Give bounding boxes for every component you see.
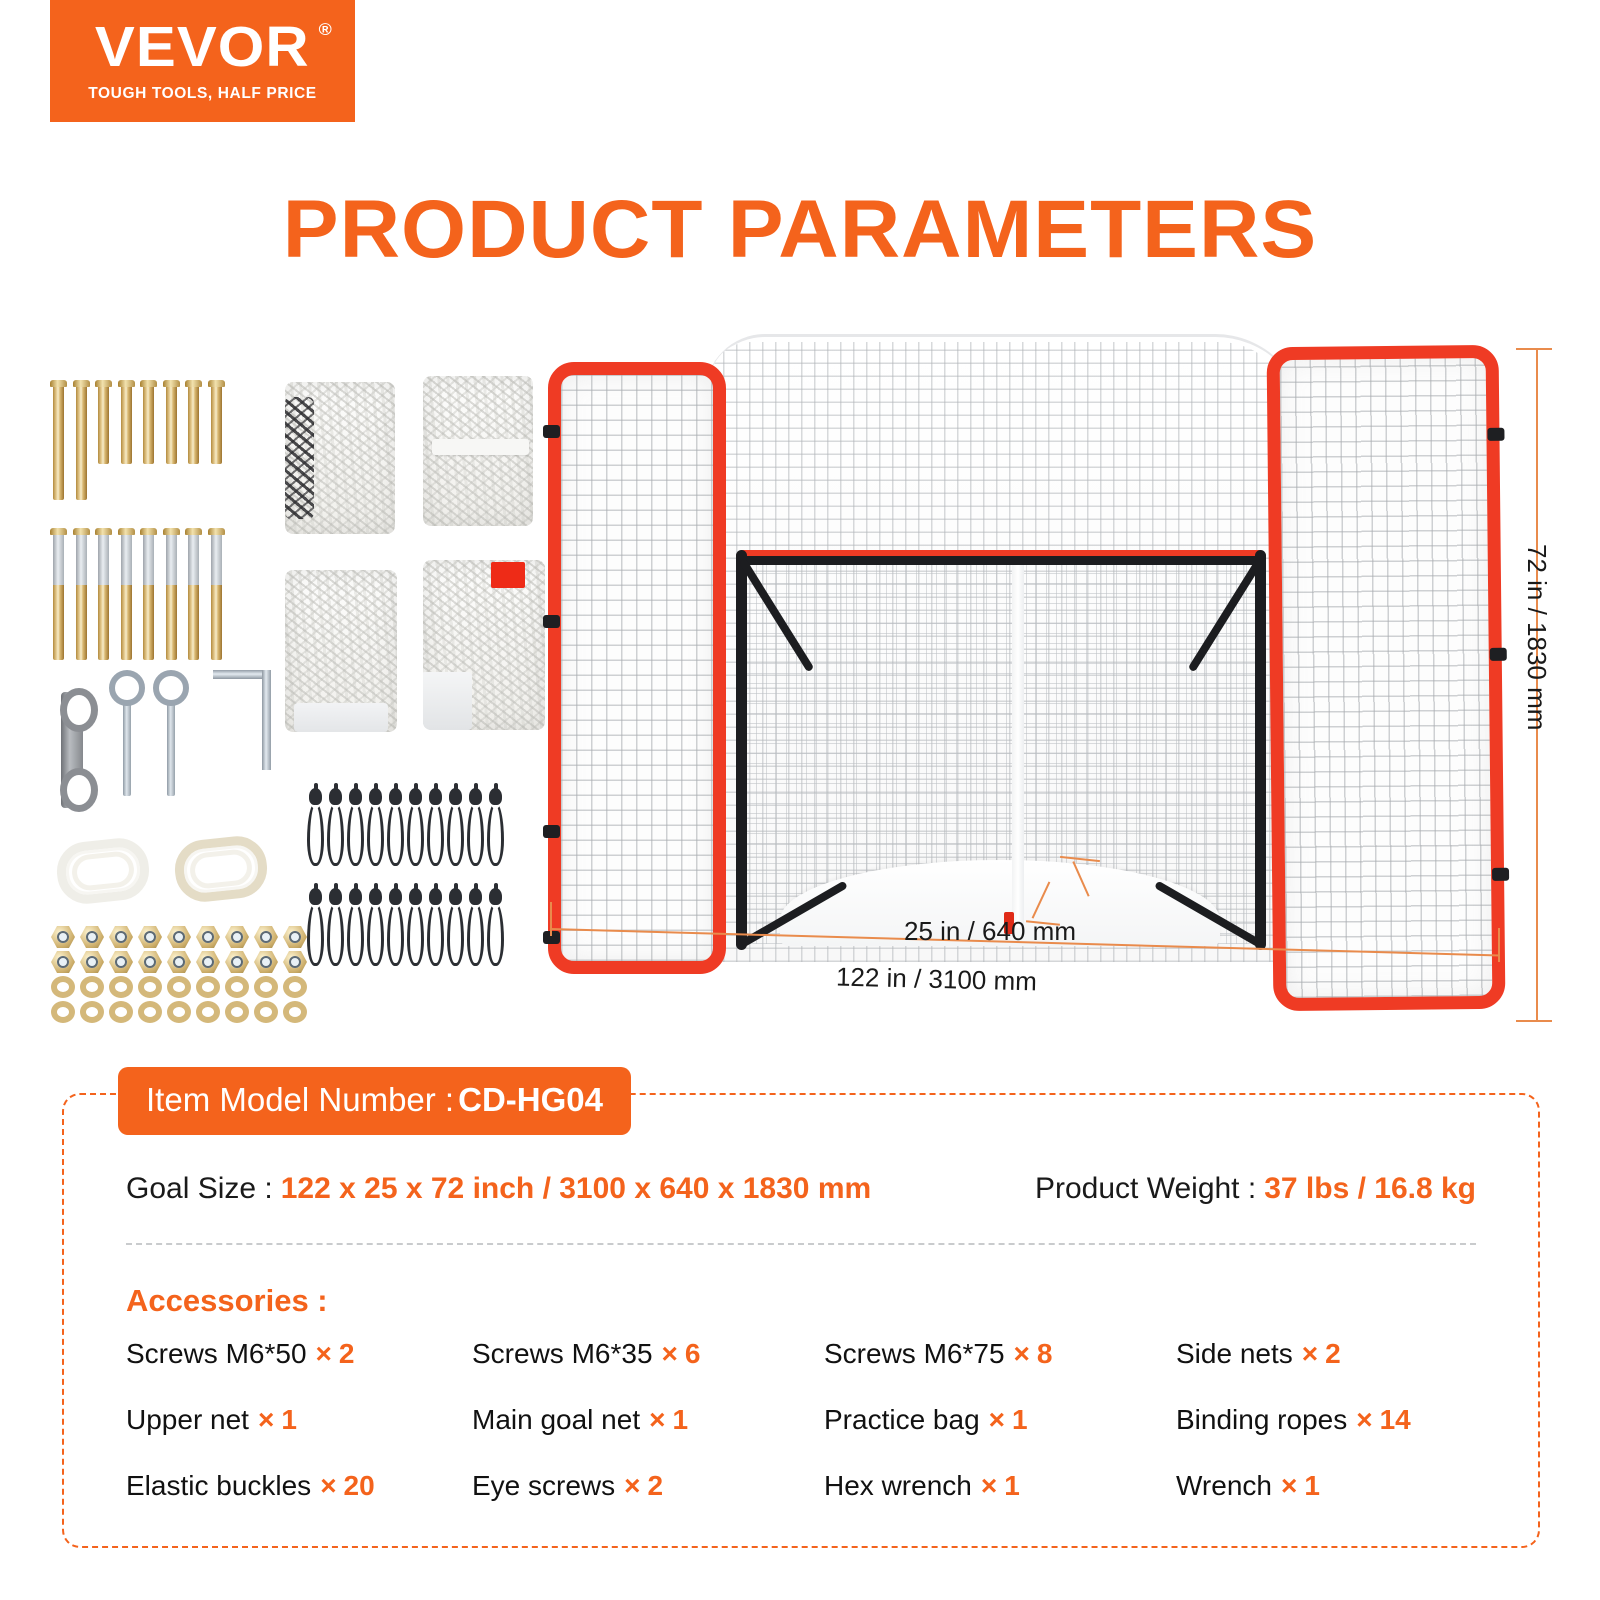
accessory-qty: 2 xyxy=(339,1338,355,1370)
brand-wordmark: VEVOR ® xyxy=(95,19,310,76)
accessory-qty: 2 xyxy=(648,1470,664,1502)
accessory-label: Screws M6*75 xyxy=(824,1338,1005,1370)
registered-mark-icon: ® xyxy=(319,21,333,38)
brand-name: VEVOR xyxy=(95,15,310,79)
dim-tick-height-top xyxy=(1516,348,1552,350)
accessories-grid: Screws M6*50 × 2 Screws M6*35 × 6 Screws… xyxy=(126,1338,1480,1502)
accessory-label: Hex wrench xyxy=(824,1470,972,1502)
brand-tagline: TOUGH TOOLS, HALF PRICE xyxy=(88,85,317,103)
multiply-icon: × xyxy=(258,1404,274,1436)
multiply-icon: × xyxy=(649,1404,665,1436)
elastic-buckles-row-2 xyxy=(307,888,504,966)
item-model-number-badge: Item Model Number :CD-HG04 xyxy=(118,1067,631,1135)
net-bundle-with-red-tag xyxy=(423,560,545,730)
product-weight-spec: Product Weight : 37 lbs / 16.8 kg xyxy=(1035,1172,1476,1206)
product-photo-hockey-goal: 122 in / 3100 mm 25 in / 640 mm 72 in / … xyxy=(540,320,1550,1040)
accessory-label: Practice bag xyxy=(824,1404,980,1436)
multiply-icon: × xyxy=(981,1470,997,1502)
multiply-icon: × xyxy=(1014,1338,1030,1370)
right-wing-panel xyxy=(1267,345,1506,1011)
accessory-qty: 1 xyxy=(672,1404,688,1436)
dim-tick-width-right xyxy=(1498,928,1500,962)
accessory-label: Main goal net xyxy=(472,1404,640,1436)
accessory-qty: 6 xyxy=(685,1338,701,1370)
accessory-label: Screws M6*50 xyxy=(126,1338,307,1370)
accessory-label: Eye screws xyxy=(472,1470,615,1502)
accessory-item: Side nets × 2 xyxy=(1176,1338,1480,1370)
dim-tick-height-bottom xyxy=(1516,1020,1552,1022)
goal-size-value: 122 x 25 x 72 inch / 3100 x 640 x 1830 m… xyxy=(281,1172,871,1206)
net-bundle-black-white xyxy=(285,382,395,534)
accessory-qty: 1 xyxy=(1304,1470,1320,1502)
item-model-number-value: CD-HG04 xyxy=(458,1081,603,1118)
center-strap xyxy=(1012,558,1024,928)
goal-size-spec: Goal Size : 122 x 25 x 72 inch / 3100 x … xyxy=(126,1172,871,1206)
product-weight-value: 37 lbs / 16.8 kg xyxy=(1264,1172,1476,1206)
accessory-item: Wrench × 1 xyxy=(1176,1470,1480,1502)
dim-label-width: 122 in / 3100 mm xyxy=(836,962,1038,998)
multiply-icon: × xyxy=(1302,1338,1318,1370)
accessory-qty: 2 xyxy=(1325,1338,1341,1370)
accessory-label: Upper net xyxy=(126,1404,249,1436)
dim-label-height: 72 in / 1830 mm xyxy=(1521,544,1552,730)
elastic-buckles-row-1 xyxy=(307,788,504,866)
spec-summary-row: Goal Size : 122 x 25 x 72 inch / 3100 x … xyxy=(62,1172,1540,1206)
accessory-label: Elastic buckles xyxy=(126,1470,311,1502)
multiply-icon: × xyxy=(989,1404,1005,1436)
net-bundle-white-folded xyxy=(285,570,397,732)
item-model-number-label: Item Model Number : xyxy=(146,1081,454,1118)
multiply-icon: × xyxy=(1356,1404,1372,1436)
accessory-label: Wrench xyxy=(1176,1470,1272,1502)
accessory-item: Screws M6*50 × 2 xyxy=(126,1338,472,1370)
accessory-qty: 1 xyxy=(281,1404,297,1436)
rope-beige xyxy=(172,833,270,904)
accessory-item: Eye screws × 2 xyxy=(472,1470,824,1502)
screws-brass-row-1 xyxy=(53,380,222,500)
spec-spacer xyxy=(871,1172,1035,1206)
product-weight-label: Product Weight : xyxy=(1035,1172,1256,1206)
vevor-logo: VEVOR ® TOUGH TOOLS, HALF PRICE xyxy=(50,0,355,122)
accessory-label: Screws M6*35 xyxy=(472,1338,653,1370)
accessory-label: Binding ropes xyxy=(1176,1404,1347,1436)
accessory-item: Screws M6*35 × 6 xyxy=(472,1338,824,1370)
left-wing-panel xyxy=(548,362,726,974)
multiply-icon: × xyxy=(320,1470,336,1502)
accessory-item: Practice bag × 1 xyxy=(824,1404,1176,1436)
eye-screw-icon xyxy=(167,700,175,796)
goal-size-label: Goal Size : xyxy=(126,1172,273,1206)
rope-white xyxy=(54,835,152,906)
inner-goal-frame xyxy=(736,550,1266,950)
accessory-qty: 20 xyxy=(344,1470,375,1502)
multiply-icon: × xyxy=(624,1470,640,1502)
accessory-item: Elastic buckles × 20 xyxy=(126,1470,472,1502)
dim-label-depth: 25 in / 640 mm xyxy=(904,916,1076,947)
accessory-item: Binding ropes × 14 xyxy=(1176,1404,1480,1436)
screws-brass-row-2 xyxy=(53,528,222,660)
multiply-icon: × xyxy=(1281,1470,1297,1502)
net-bundle-white xyxy=(423,376,533,526)
product-parameters-page: VEVOR ® TOUGH TOOLS, HALF PRICE PRODUCT … xyxy=(0,0,1600,1600)
accessory-item: Main goal net × 1 xyxy=(472,1404,824,1436)
dim-tick-width-left xyxy=(550,902,552,936)
accessory-qty: 1 xyxy=(1012,1404,1028,1436)
accessory-label: Side nets xyxy=(1176,1338,1293,1370)
accessory-item: Upper net × 1 xyxy=(126,1404,472,1436)
flat-wrench-icon xyxy=(61,692,83,808)
spec-divider xyxy=(126,1243,1476,1245)
eye-screw-icon xyxy=(123,700,131,796)
accessories-photo xyxy=(45,370,535,1000)
page-title: PRODUCT PARAMETERS xyxy=(0,183,1600,277)
accessory-qty: 8 xyxy=(1037,1338,1053,1370)
accessory-item: Hex wrench × 1 xyxy=(824,1470,1176,1502)
accessory-item: Screws M6*75 × 8 xyxy=(824,1338,1176,1370)
nuts-and-washers xyxy=(51,926,309,1023)
accessory-qty: 14 xyxy=(1380,1404,1411,1436)
multiply-icon: × xyxy=(316,1338,332,1370)
multiply-icon: × xyxy=(662,1338,678,1370)
accessories-heading: Accessories : xyxy=(126,1283,328,1319)
accessory-qty: 1 xyxy=(1004,1470,1020,1502)
